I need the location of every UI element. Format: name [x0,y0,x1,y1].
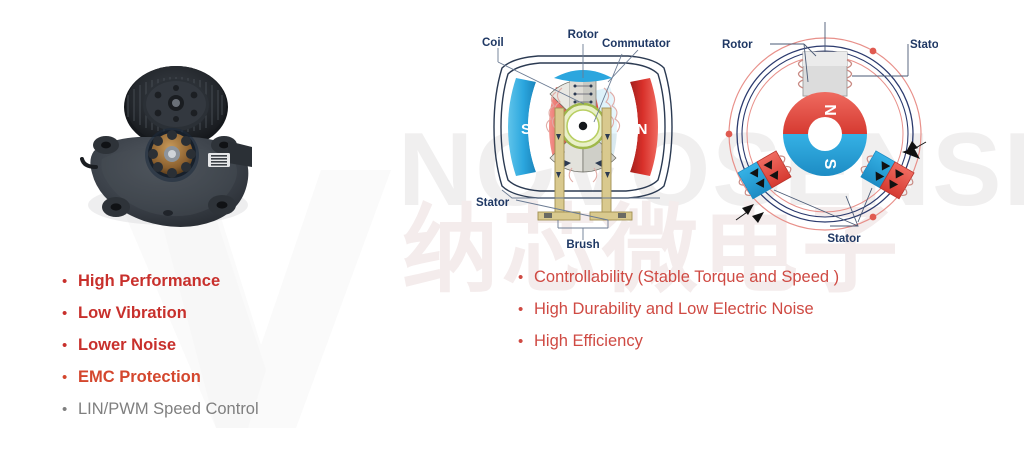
label-stator-top: Stator [910,39,938,51]
list-item: • Low Vibration [62,304,392,336]
stator-coil-right-icon [857,149,917,201]
label-coil: Coil [482,37,504,49]
pin-header-icon [208,153,230,167]
bullet-dot-icon: • [62,274,78,289]
bullet-dot-icon: • [518,334,534,349]
left-feature-list: • High Performance • Low Vibration • Low… [62,272,392,432]
bullet-dot-icon: • [62,338,78,353]
feature-label: Lower Noise [78,336,176,355]
right-feature-list: • Controllability (Stable Torque and Spe… [518,268,948,364]
stator-coil-top-icon [799,52,852,96]
label-commutator: Commutator [602,38,671,50]
south-pole-letter: S [521,121,531,138]
slide-root: NOVOSENSE 纳芯微电子 [0,0,1024,471]
diagram-brushless-dc-motor: N S [712,22,938,250]
label-stator-bottom: Stator [827,233,861,245]
feature-label: Controllability (Stable Torque and Speed… [534,268,839,287]
rotor-magnet-icon: N S [783,92,867,176]
feature-label: Low Vibration [78,304,187,323]
diagram-brushed-dc-motor: S N [472,22,694,250]
list-item: • LIN/PWM Speed Control [62,400,392,432]
feature-label: High Durability and Low Electric Noise [534,300,814,319]
list-item: • EMC Protection [62,368,392,400]
list-item: • Controllability (Stable Torque and Spe… [518,268,948,300]
bullet-dot-icon: • [62,402,78,417]
feature-label: LIN/PWM Speed Control [78,400,259,419]
rotor-north-letter: N [821,104,838,116]
label-rotor: Rotor [568,29,599,41]
stator-coil-left-icon [734,149,794,201]
list-item: • High Durability and Low Electric Noise [518,300,948,332]
label-brush: Brush [566,239,599,250]
bullet-dot-icon: • [62,306,78,321]
north-pole-letter: N [637,121,648,138]
list-item: • High Performance [62,272,392,304]
label-rotor: Rotor [722,39,753,51]
list-item: • Lower Noise [62,336,392,368]
rotor-winding-icon [145,128,199,182]
bullet-dot-icon: • [62,370,78,385]
feature-label: EMC Protection [78,368,201,387]
rotor-south-letter: S [821,159,838,170]
product-photo-blower-motor [72,55,262,235]
feature-label: High Performance [78,272,220,291]
bullet-dot-icon: • [518,270,534,285]
bullet-dot-icon: • [518,302,534,317]
feature-label: High Efficiency [534,332,643,351]
label-stator: Stator [476,197,510,209]
list-item: • High Efficiency [518,332,948,364]
